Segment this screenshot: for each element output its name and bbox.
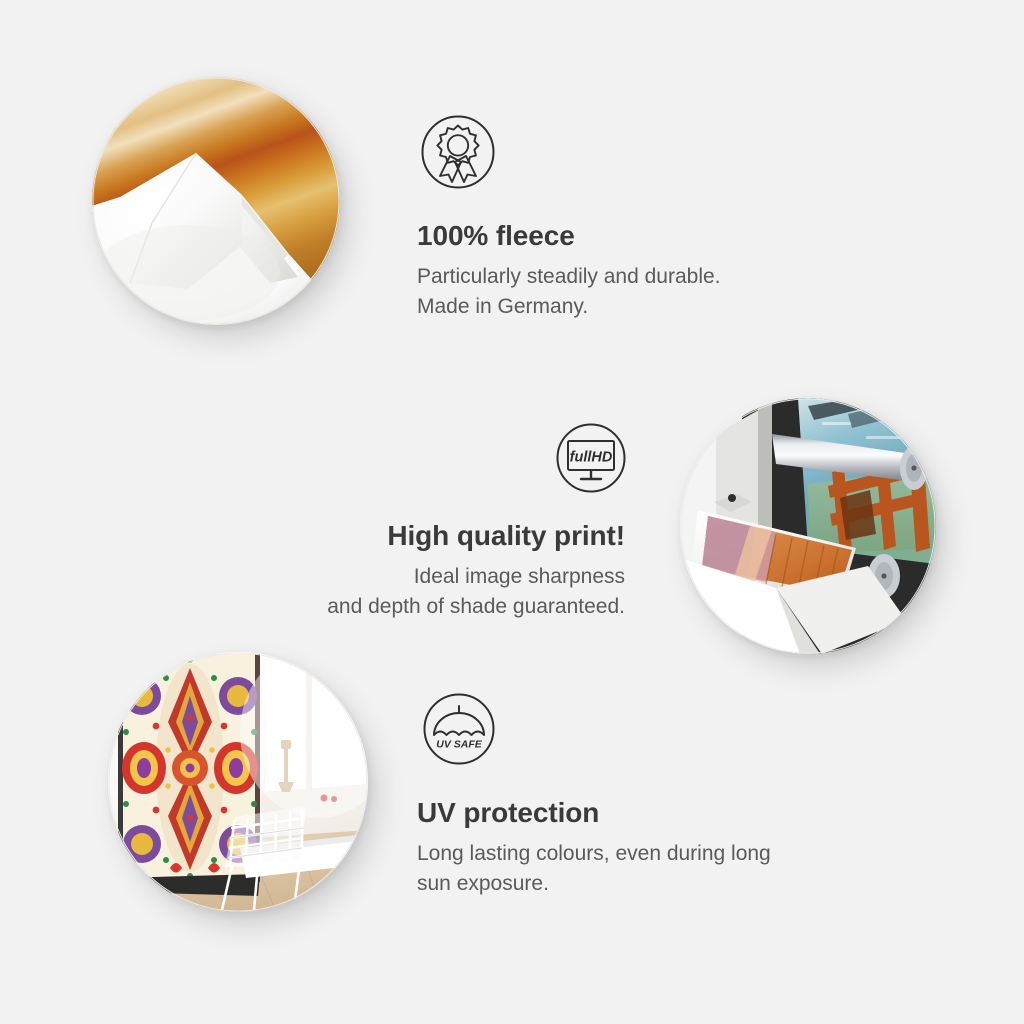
- large-format-printer-photo: [680, 398, 936, 654]
- feature-block-print: High quality print! Ideal image sharpnes…: [255, 520, 625, 622]
- feature-body-uv: Long lasting colours, even during long s…: [417, 839, 771, 899]
- feature-body-line: sun exposure.: [417, 869, 771, 899]
- uv-safe-icon-label: UV SAFE: [436, 739, 483, 751]
- feature-body-line: Made in Germany.: [417, 292, 721, 322]
- feature-body-line: Ideal image sharpness: [255, 562, 625, 592]
- feature-body-print: Ideal image sharpness and depth of shade…: [255, 562, 625, 622]
- feature-block-uv: UV protection Long lasting colours, even…: [417, 797, 771, 899]
- feature-body-fleece: Particularly steadily and durable. Made …: [417, 262, 721, 322]
- uv-safe-umbrella-icon: UV SAFE: [422, 692, 496, 766]
- feature-body-line: Long lasting colours, even during long: [417, 839, 771, 869]
- feature-heading-fleece: 100% fleece: [417, 220, 721, 251]
- award-rosette-icon: [420, 114, 496, 190]
- wallpaper-peeling-corner-photo: [92, 77, 340, 325]
- feature-body-line: and depth of shade guaranteed.: [255, 592, 625, 622]
- feature-heading-uv: UV protection: [417, 797, 771, 828]
- mandala-wallpaper-interior-photo: [108, 652, 368, 912]
- fullhd-monitor-icon: fullHD: [555, 422, 627, 494]
- feature-heading-print: High quality print!: [255, 520, 625, 551]
- feature-block-fleece: 100% fleece Particularly steadily and du…: [417, 220, 721, 322]
- fullhd-icon-label: fullHD: [570, 450, 613, 466]
- feature-infographic: 100% fleece Particularly steadily and du…: [0, 0, 1024, 1024]
- feature-body-line: Particularly steadily and durable.: [417, 262, 721, 292]
